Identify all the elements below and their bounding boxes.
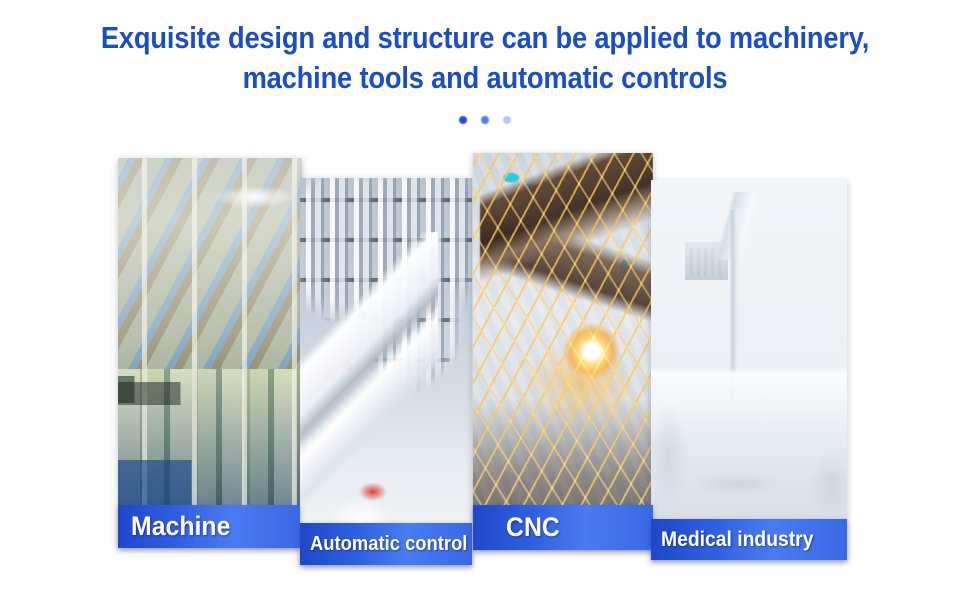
caption-automatic-control-label: Automatic control [310, 533, 467, 556]
caption-automatic-control: Automatic control [300, 523, 472, 565]
caption-medical-label: Medical industry [661, 528, 813, 552]
caption-cnc-label: CNC [506, 512, 560, 543]
carousel-dots[interactable] [0, 116, 970, 124]
caption-machine-label: Machine [131, 511, 230, 542]
panel-cnc [473, 153, 653, 550]
panel-automatic-control [300, 178, 472, 565]
cnc-photo [473, 153, 653, 550]
carousel-dot-1[interactable] [459, 116, 467, 124]
automatic-control-photo [300, 178, 472, 565]
machine-photo [118, 158, 302, 548]
carousel-dot-3[interactable] [503, 116, 511, 124]
medical-photo [651, 180, 847, 560]
applications-banner: Exquisite design and structure can be ap… [0, 0, 970, 600]
panel-medical [651, 180, 847, 560]
page-title: Exquisite design and structure can be ap… [58, 18, 912, 98]
caption-medical: Medical industry [651, 519, 847, 560]
carousel-dot-2[interactable] [481, 116, 489, 124]
panel-machine [118, 158, 302, 548]
caption-machine: Machine [118, 505, 300, 548]
caption-cnc: CNC [473, 505, 653, 550]
